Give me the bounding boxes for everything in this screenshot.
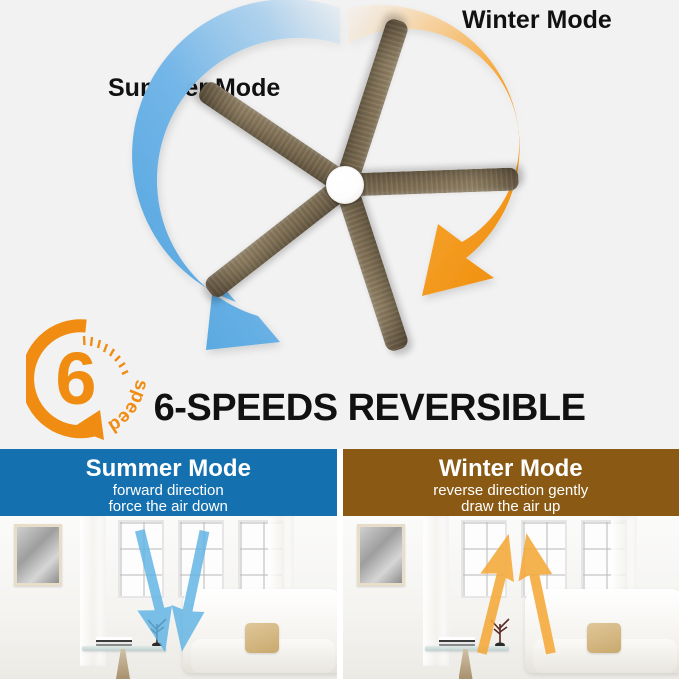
product-infographic: Summer Mode Winter Mode (0, 0, 679, 679)
summer-mode-panel: Summer Mode forward direction force the … (0, 449, 337, 679)
window (461, 520, 507, 598)
summer-banner: Summer Mode forward direction force the … (0, 449, 337, 516)
window (521, 520, 567, 598)
summer-banner-title: Summer Mode (0, 455, 337, 483)
page-title: 6-SPEEDS REVERSIBLE (0, 387, 679, 430)
books-stack (439, 637, 475, 646)
winter-banner-subtitle-2: draw the air up (343, 499, 679, 515)
fan-diagram (170, 0, 520, 370)
fan-blades (170, 0, 520, 370)
throw-pillow (587, 623, 621, 653)
decorative-branch (485, 612, 515, 646)
winter-banner-subtitle-1: reverse direction gently (343, 483, 679, 499)
decorative-branch (142, 612, 172, 646)
mode-comparison-panels: Summer Mode forward direction force the … (0, 449, 679, 679)
summer-banner-subtitle-2: force the air down (0, 499, 337, 515)
summer-room-photo (0, 516, 337, 679)
winter-banner: Winter Mode reverse direction gently dra… (343, 449, 679, 516)
wall-art (14, 524, 62, 586)
summer-banner-subtitle-1: forward direction (0, 483, 337, 499)
window (178, 520, 224, 598)
winter-mode-panel: Winter Mode reverse direction gently dra… (343, 449, 679, 679)
window (118, 520, 164, 598)
books-stack (96, 637, 132, 646)
winter-room-photo (343, 516, 679, 679)
winter-banner-title: Winter Mode (343, 455, 679, 483)
hero-diagram-section: Summer Mode Winter Mode (0, 0, 679, 449)
throw-pillow (245, 623, 279, 653)
fan-hub (326, 166, 364, 204)
wall-art (357, 524, 405, 586)
